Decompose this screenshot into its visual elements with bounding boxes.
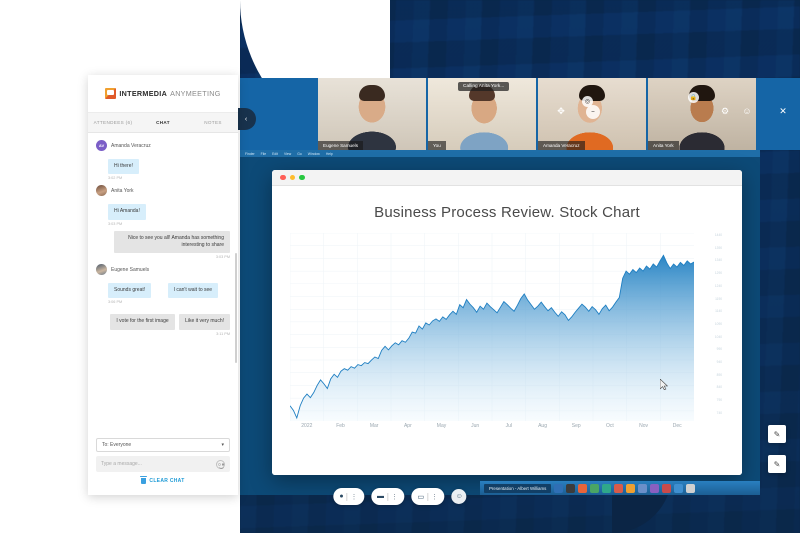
message-bubble: Hi there!	[108, 159, 139, 174]
message-sender: Anita York	[96, 185, 230, 196]
message-bubble: Hi Amanda!	[108, 204, 146, 219]
tab-attendees[interactable]: ATTENDEES (6)	[88, 120, 138, 125]
microphone-control[interactable]: ● ⋮	[333, 488, 364, 505]
slide-content: Business Process Review. Stock Chart	[272, 186, 742, 475]
mouse-cursor	[660, 379, 668, 390]
message-bubble: I vote for the first image	[110, 314, 174, 329]
close-icon[interactable]: ✕	[776, 104, 790, 118]
x-axis-tick: Oct	[593, 423, 627, 429]
message-bubble: Nice to see you all! Amanda has somethin…	[114, 231, 230, 254]
link-icon[interactable]: ⎯	[586, 105, 600, 119]
chat-message-own: I vote for the first image Like it very …	[96, 309, 230, 335]
shared-screen: Finder File Edit View Go Window Help Bus…	[240, 150, 760, 495]
recipient-label: To: Everyone	[102, 442, 131, 448]
y-axis-tick: 740	[717, 411, 722, 415]
message-time: 3:03 PM	[96, 255, 230, 259]
gear-icon[interactable]: ⚙	[718, 104, 732, 118]
chevron-down-icon: ▾	[221, 442, 224, 448]
x-axis-tick: Aug	[526, 423, 560, 429]
message-input-placeholder: Type a message...	[101, 461, 142, 467]
chat-message: Anita York Hi Amanda! 3:03 PM	[96, 185, 230, 225]
x-axis-tick: 2022	[290, 423, 324, 429]
chat-composer: To: Everyone ▾ Type a message... CLEAR C…	[88, 438, 238, 495]
tab-chat[interactable]: CHAT	[138, 120, 188, 125]
chat-message: Eugene Samuels Sounds great! I can't wai…	[96, 264, 230, 304]
menu-item[interactable]: Window	[308, 152, 320, 156]
y-axis-tick: 890	[717, 373, 722, 377]
app-icon[interactable]	[650, 484, 659, 493]
chart-canvas	[290, 233, 694, 421]
chart-plot-area: 1440139013401290124011901140109010409909…	[290, 233, 724, 421]
chart-y-axis: 1440139013401290124011901140109010409909…	[694, 233, 724, 421]
clear-chat-label: CLEAR CHAT	[149, 478, 184, 484]
annotate-button-bottom[interactable]: ✎	[768, 455, 786, 473]
menu-item[interactable]: Help	[326, 152, 333, 156]
participant-name: Anita York	[648, 141, 679, 150]
camera-menu-icon[interactable]: ⋮	[391, 493, 399, 501]
emoji-picker-icon[interactable]	[216, 460, 225, 469]
y-axis-tick: 1140	[715, 309, 722, 313]
x-axis-tick: Jun	[458, 423, 492, 429]
avatar: AV	[96, 140, 107, 151]
app-icon[interactable]	[554, 484, 563, 493]
avatar	[96, 264, 107, 275]
participant-name: You	[428, 141, 446, 150]
y-axis-tick: 1390	[715, 246, 722, 250]
message-time: 3:11 PM	[96, 332, 230, 336]
menu-item[interactable]: Edit	[272, 152, 278, 156]
chat-scrollbar[interactable]	[235, 253, 237, 363]
x-axis-tick: Nov	[627, 423, 661, 429]
y-axis-tick: 1340	[715, 258, 722, 262]
x-axis-tick: Apr	[391, 423, 425, 429]
message-sender: AV Amanda Veracruz	[96, 140, 230, 151]
participant-name: Eugene Samuels	[318, 141, 363, 150]
meeting-controls: ● ⋮ ▬ ⋮ ▭ ⋮ ☺	[333, 488, 466, 505]
message-bubble: Like it very much!	[179, 314, 230, 329]
y-axis-tick: 1290	[715, 271, 722, 275]
camera-icon[interactable]: ▬	[377, 493, 384, 500]
participant-tile[interactable]: Eugene Samuels	[318, 78, 426, 150]
tab-notes[interactable]: NOTES	[188, 120, 238, 125]
x-axis-tick: Mar	[357, 423, 391, 429]
y-axis-tick: 840	[717, 385, 722, 389]
chat-message-list[interactable]: AV Amanda Veracruz Hi there! 3:02 PM Ani…	[88, 133, 238, 438]
os-menubar: Finder File Edit View Go Window Help	[240, 150, 760, 157]
menu-item[interactable]: File	[261, 152, 266, 156]
close-window-icon[interactable]	[280, 175, 286, 181]
brand-logo: INTERMEDIA ANYMEETING	[88, 75, 238, 113]
message-sender: Eugene Samuels	[96, 264, 230, 275]
window-titlebar	[272, 170, 742, 186]
app-icon[interactable]	[566, 484, 575, 493]
y-axis-tick: 990	[717, 347, 722, 351]
app-icon[interactable]	[614, 484, 623, 493]
calling-tooltip: Calling Anita York...	[458, 82, 509, 91]
participant-video	[318, 78, 426, 150]
avatar	[96, 185, 107, 196]
x-axis-tick: Feb	[324, 423, 358, 429]
taskbar-window-title[interactable]: Presentation - Albert Williams	[484, 484, 551, 493]
app-icon[interactable]	[662, 484, 671, 493]
microphone-menu-icon[interactable]: ⋮	[351, 493, 359, 501]
message-input[interactable]: Type a message...	[96, 456, 230, 472]
chat-message-own: Nice to see you all! Amanda has somethin…	[96, 231, 230, 260]
y-axis-tick: 940	[717, 360, 722, 364]
chart-x-axis: 2022FebMarAprMayJunJulAugSepOctNovDec	[290, 423, 724, 429]
lock-icon[interactable]: 🔒	[688, 92, 699, 103]
x-axis-tick: May	[425, 423, 459, 429]
chat-panel: INTERMEDIA ANYMEETING ATTENDEES (6) CHAT…	[88, 75, 238, 495]
y-axis-tick: 1040	[715, 335, 722, 339]
maximize-window-icon[interactable]	[299, 175, 305, 181]
y-axis-tick: 790	[717, 398, 722, 402]
sender-name: Eugene Samuels	[111, 267, 149, 273]
emoji-icon: ☺	[456, 493, 463, 500]
x-axis-tick: Sep	[559, 423, 593, 429]
minimize-window-icon[interactable]	[290, 175, 296, 181]
recipient-select[interactable]: To: Everyone ▾	[96, 438, 230, 452]
app-icon[interactable]	[602, 484, 611, 493]
clear-chat-button[interactable]: CLEAR CHAT	[96, 472, 230, 491]
y-axis-tick: 1190	[715, 297, 722, 301]
app-icon[interactable]	[578, 484, 587, 493]
screen-share-icon[interactable]: ▭	[418, 493, 425, 501]
app-icon[interactable]	[626, 484, 635, 493]
screenshare-menu-icon[interactable]: ⋮	[431, 493, 439, 501]
pencil-icon: ✎	[774, 460, 781, 469]
menu-item[interactable]: Finder	[245, 152, 255, 156]
participant-name: Amanda Veracruz	[538, 141, 585, 150]
sender-name: Anita York	[111, 188, 134, 194]
y-axis-tick: 1090	[715, 322, 722, 326]
message-time: 3:03 PM	[108, 222, 230, 226]
stock-area-chart	[290, 233, 694, 421]
x-axis-tick: Dec	[660, 423, 694, 429]
presentation-window: Business Process Review. Stock Chart	[272, 170, 742, 475]
camera-control[interactable]: ▬ ⋮	[371, 488, 405, 505]
microphone-icon[interactable]: ●	[339, 493, 343, 500]
expand-icon[interactable]: ✥	[554, 104, 568, 118]
reactions-button[interactable]: ☺	[452, 489, 467, 504]
sender-name: Amanda Veracruz	[111, 143, 151, 149]
chat-message: AV Amanda Veracruz Hi there! 3:02 PM	[96, 140, 230, 180]
y-axis-tick: 1440	[715, 233, 722, 237]
menu-item[interactable]: View	[284, 152, 291, 156]
participant-video-strip: Eugene Samuels You ◎ Amanda Veracruz 🔒 A…	[240, 78, 800, 150]
app-icon[interactable]	[674, 484, 683, 493]
message-time: 3:06 PM	[108, 300, 230, 304]
chart-title: Business Process Review. Stock Chart	[290, 204, 724, 221]
y-axis-tick: 1240	[715, 284, 722, 288]
menu-item[interactable]: Go	[297, 152, 302, 156]
brand-name-primary: INTERMEDIA	[119, 89, 167, 98]
annotate-button-top[interactable]: ✎	[768, 425, 786, 443]
brand-name-secondary: ANYMEETING	[170, 89, 221, 98]
intermedia-logo-icon	[105, 88, 116, 99]
app-icon[interactable]	[686, 484, 695, 493]
app-icon[interactable]	[590, 484, 599, 493]
taskbar: Presentation - Albert Williams	[480, 481, 760, 495]
x-axis-tick: Jul	[492, 423, 526, 429]
message-bubble: I can't wait to see	[168, 283, 218, 298]
message-time: 3:02 PM	[108, 176, 230, 180]
message-bubble: Sounds great!	[108, 283, 151, 298]
pencil-icon: ✎	[774, 430, 781, 439]
trash-icon	[141, 478, 146, 484]
screenshare-control[interactable]: ▭ ⋮	[412, 488, 445, 505]
app-icon[interactable]	[638, 484, 647, 493]
people-icon[interactable]: ☺	[740, 104, 754, 118]
panel-tabs: ATTENDEES (6) CHAT NOTES	[88, 113, 238, 133]
